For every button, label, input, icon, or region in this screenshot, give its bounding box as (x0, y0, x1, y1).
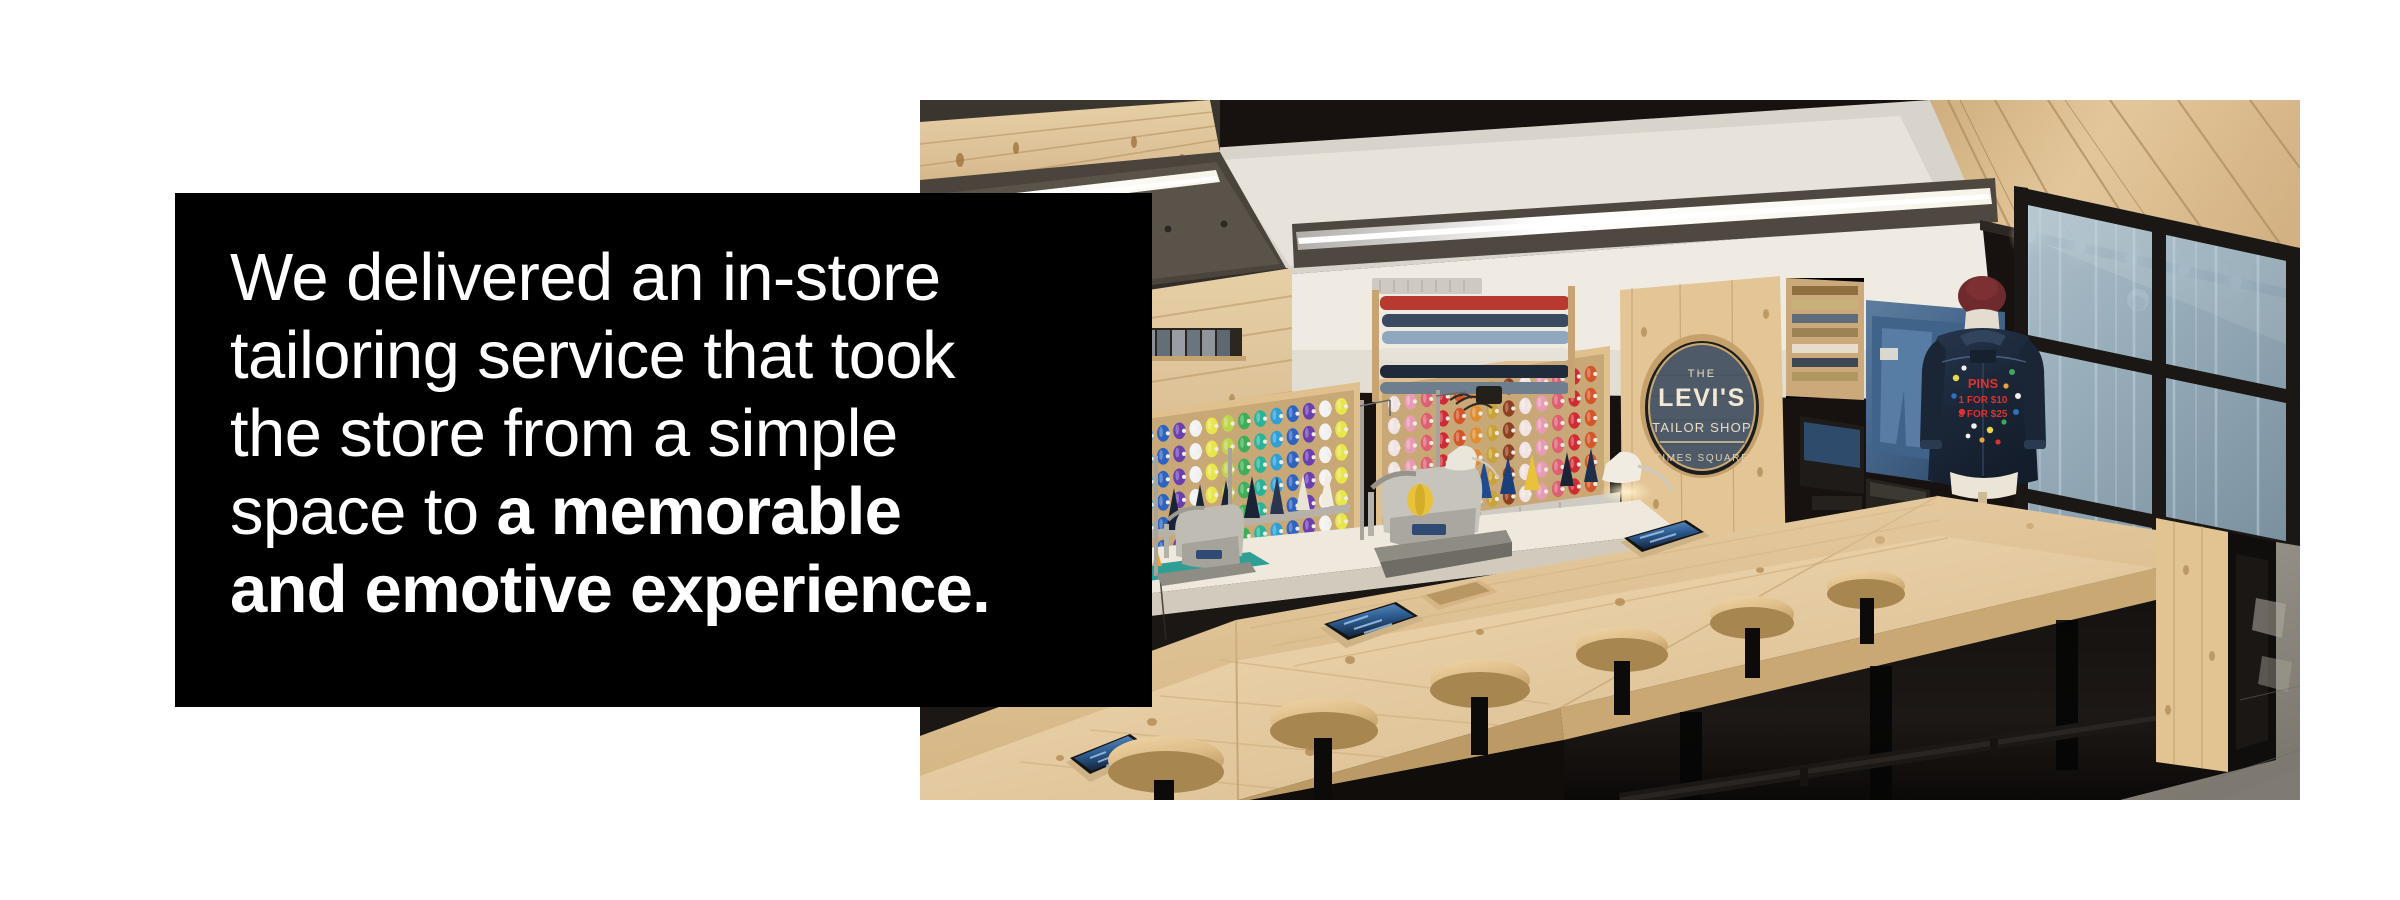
quote-line-4-bold: a memorable (497, 474, 902, 549)
sign-line-times-square: TIMES SQUARE (1655, 453, 1750, 464)
fabric-roll-shelves (1372, 286, 1575, 402)
quote-text: We delivered an in-store tailoring servi… (230, 239, 1110, 629)
quote-line-1: We delivered an in-store (230, 240, 941, 315)
jacket-sign-line3: 3 FOR $25 (1959, 409, 2008, 420)
jacket-sign-line2: 1 FOR $10 (1959, 395, 2008, 406)
quote-line-2: tailoring service that took (230, 318, 955, 393)
sign-line-levis: LEVI'S (1658, 384, 1746, 412)
quote-line-5-bold: and emotive experience. (230, 552, 990, 627)
sign-line-the: THE (1688, 368, 1717, 380)
right-wood-panel (2156, 518, 2276, 772)
quote-line-3: the store from a simple (230, 396, 898, 471)
composition-stage: THE LEVI'S TAILOR SHOP TIMES SQUARE (0, 0, 2400, 900)
quote-card: We delivered an in-store tailoring servi… (175, 193, 1152, 707)
quote-line-4-regular: space to (230, 474, 497, 549)
sign-line-tailor-shop: TAILOR SHOP (1652, 420, 1752, 435)
jacket-sign-pins: PINS (1968, 376, 1999, 391)
